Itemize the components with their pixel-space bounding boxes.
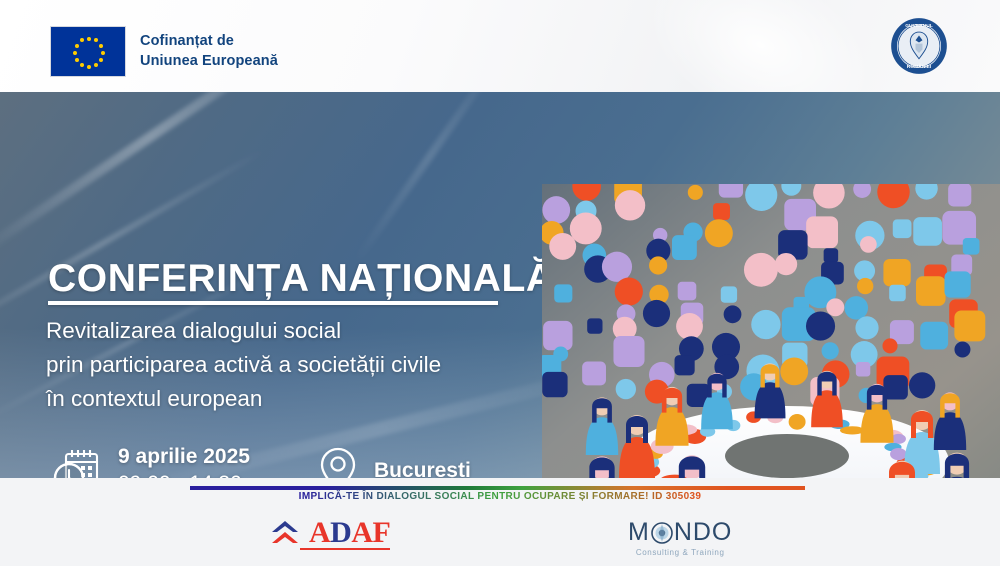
speech-bubble bbox=[913, 217, 942, 246]
speech-bubble bbox=[688, 185, 703, 200]
speech-bubble bbox=[719, 184, 743, 198]
speech-bubble bbox=[822, 342, 839, 359]
speech-bubble bbox=[826, 298, 844, 316]
title-underline bbox=[48, 301, 498, 305]
speech-bubble bbox=[944, 271, 970, 297]
map-pin-icon bbox=[314, 444, 362, 478]
speech-bubble bbox=[643, 300, 670, 327]
speech-bubble bbox=[954, 341, 970, 357]
romanian-government-seal: GUVERNUL ROMÂNIEI bbox=[890, 17, 948, 75]
speech-bubble bbox=[780, 357, 808, 385]
speech-bubble bbox=[602, 252, 632, 282]
speech-bubble bbox=[889, 285, 906, 302]
compass-target-icon bbox=[651, 522, 673, 544]
table-paper bbox=[890, 448, 906, 460]
page-subtitle: Revitalizarea dialogului social prin par… bbox=[46, 314, 441, 417]
round-table-discussion-illustration bbox=[542, 184, 1000, 478]
speech-bubble bbox=[672, 235, 697, 260]
mondo-letters-ndo: NDO bbox=[674, 518, 733, 547]
speech-bubble bbox=[554, 284, 572, 302]
adaf-letter-d: D bbox=[330, 516, 351, 549]
speech-bubble bbox=[751, 310, 780, 339]
conference-poster: Cofinanțat de Uniunea Europeană GUVERNUL… bbox=[0, 0, 1000, 566]
speech-bubble bbox=[615, 190, 645, 220]
speech-bubble bbox=[855, 316, 878, 339]
mondo-wordmark: M NDO bbox=[628, 518, 732, 547]
event-time: 09:00 - 14:30 bbox=[118, 471, 250, 478]
eu-text-line-2: Uniunea Europeană bbox=[140, 52, 278, 71]
speech-bubble bbox=[615, 278, 643, 306]
speech-bubble bbox=[675, 355, 695, 375]
speech-bubble bbox=[963, 238, 980, 255]
speech-bubble bbox=[844, 296, 868, 320]
speech-bubble bbox=[883, 259, 910, 286]
event-date: 9 aprilie 2025 bbox=[118, 444, 250, 471]
speech-bubble bbox=[613, 336, 644, 367]
speech-bubble bbox=[542, 372, 567, 397]
speech-bubble bbox=[616, 379, 636, 399]
speech-bubble bbox=[570, 213, 602, 245]
poster-main-banner: CONFERINȚA NAȚIONALĂ Revitalizarea dialo… bbox=[0, 92, 1000, 478]
project-tagline: IMPLICĂ-TE ÎN DIALOGUL SOCIAL PENTRU OCU… bbox=[0, 491, 1000, 502]
speech-bubble bbox=[775, 253, 797, 275]
poster-footer: IMPLICĂ-TE ÎN DIALOGUL SOCIAL PENTRU OCU… bbox=[0, 478, 1000, 566]
speech-bubble bbox=[582, 361, 606, 385]
speech-bubble bbox=[920, 322, 948, 350]
mondo-letter-m: M bbox=[628, 518, 650, 547]
subtitle-line-1: Revitalizarea dialogului social bbox=[46, 314, 441, 348]
speech-bubble bbox=[954, 311, 985, 342]
speech-bubble bbox=[857, 278, 873, 294]
event-location-block: București bbox=[314, 444, 471, 478]
speech-bubble bbox=[916, 276, 946, 306]
speech-bubble bbox=[549, 233, 576, 260]
adaf-underline bbox=[300, 548, 390, 550]
event-meta: 9 aprilie 2025 09:00 - 14:30 București bbox=[52, 444, 471, 478]
speech-bubble bbox=[713, 203, 730, 220]
speech-bubble bbox=[721, 286, 737, 302]
event-date-text: 9 aprilie 2025 09:00 - 14:30 bbox=[118, 444, 250, 478]
speech-bubble bbox=[824, 248, 839, 263]
seal-top-text: GUVERNUL bbox=[905, 23, 933, 29]
eu-flag-stars bbox=[51, 27, 125, 76]
speech-bubble bbox=[724, 305, 742, 323]
gradient-divider bbox=[190, 486, 805, 490]
calendar-clock-icon bbox=[52, 445, 104, 478]
poster-header: Cofinanțat de Uniunea Europeană GUVERNUL… bbox=[0, 0, 1000, 92]
speech-bubble bbox=[678, 282, 697, 301]
double-chevron-icon bbox=[268, 518, 302, 548]
speech-bubble bbox=[806, 312, 835, 341]
project-tagline-text: IMPLICĂ-TE ÎN DIALOGUL SOCIAL PENTRU OCU… bbox=[299, 491, 702, 502]
table-paper bbox=[789, 414, 806, 430]
eu-cofunding-block: Cofinanțat de Uniunea Europeană bbox=[50, 26, 278, 77]
event-date-block: 9 aprilie 2025 09:00 - 14:30 bbox=[52, 444, 250, 478]
speech-bubble bbox=[882, 338, 897, 353]
speech-bubble bbox=[860, 236, 877, 253]
light-streak bbox=[0, 92, 327, 259]
event-location: București bbox=[374, 459, 471, 478]
page-title: CONFERINȚA NAȚIONALĂ bbox=[48, 257, 555, 301]
mondo-logo: M NDO Consulting & Training bbox=[628, 518, 732, 557]
speech-bubble bbox=[676, 313, 703, 340]
speech-bubble bbox=[806, 216, 838, 248]
eu-text-line-1: Cofinanțat de bbox=[140, 32, 278, 51]
light-streak bbox=[352, 92, 508, 265]
speech-bubble bbox=[856, 362, 870, 376]
speech-bubble bbox=[705, 219, 733, 247]
subtitle-line-3: în contextul european bbox=[46, 382, 441, 416]
speech-bubble bbox=[543, 321, 572, 350]
adaf-logo: ADAF bbox=[268, 516, 390, 550]
eu-flag bbox=[50, 26, 126, 77]
speech-bubble bbox=[542, 196, 570, 224]
adaf-wordmark: ADAF bbox=[309, 516, 390, 550]
speech-bubble bbox=[744, 253, 778, 287]
speech-bubble bbox=[948, 184, 971, 206]
footer-logos: ADAF M NDO Consulting & Training bbox=[0, 510, 1000, 566]
speech-bubble bbox=[649, 256, 667, 274]
eu-cofunding-text: Cofinanțat de Uniunea Europeană bbox=[140, 32, 278, 70]
speech-bubble bbox=[893, 219, 912, 238]
speech-bubble bbox=[909, 372, 935, 398]
subtitle-line-2: prin participarea activă a societății ci… bbox=[46, 348, 441, 382]
mondo-tagline: Consulting & Training bbox=[628, 548, 732, 557]
speech-bubble bbox=[587, 318, 602, 333]
